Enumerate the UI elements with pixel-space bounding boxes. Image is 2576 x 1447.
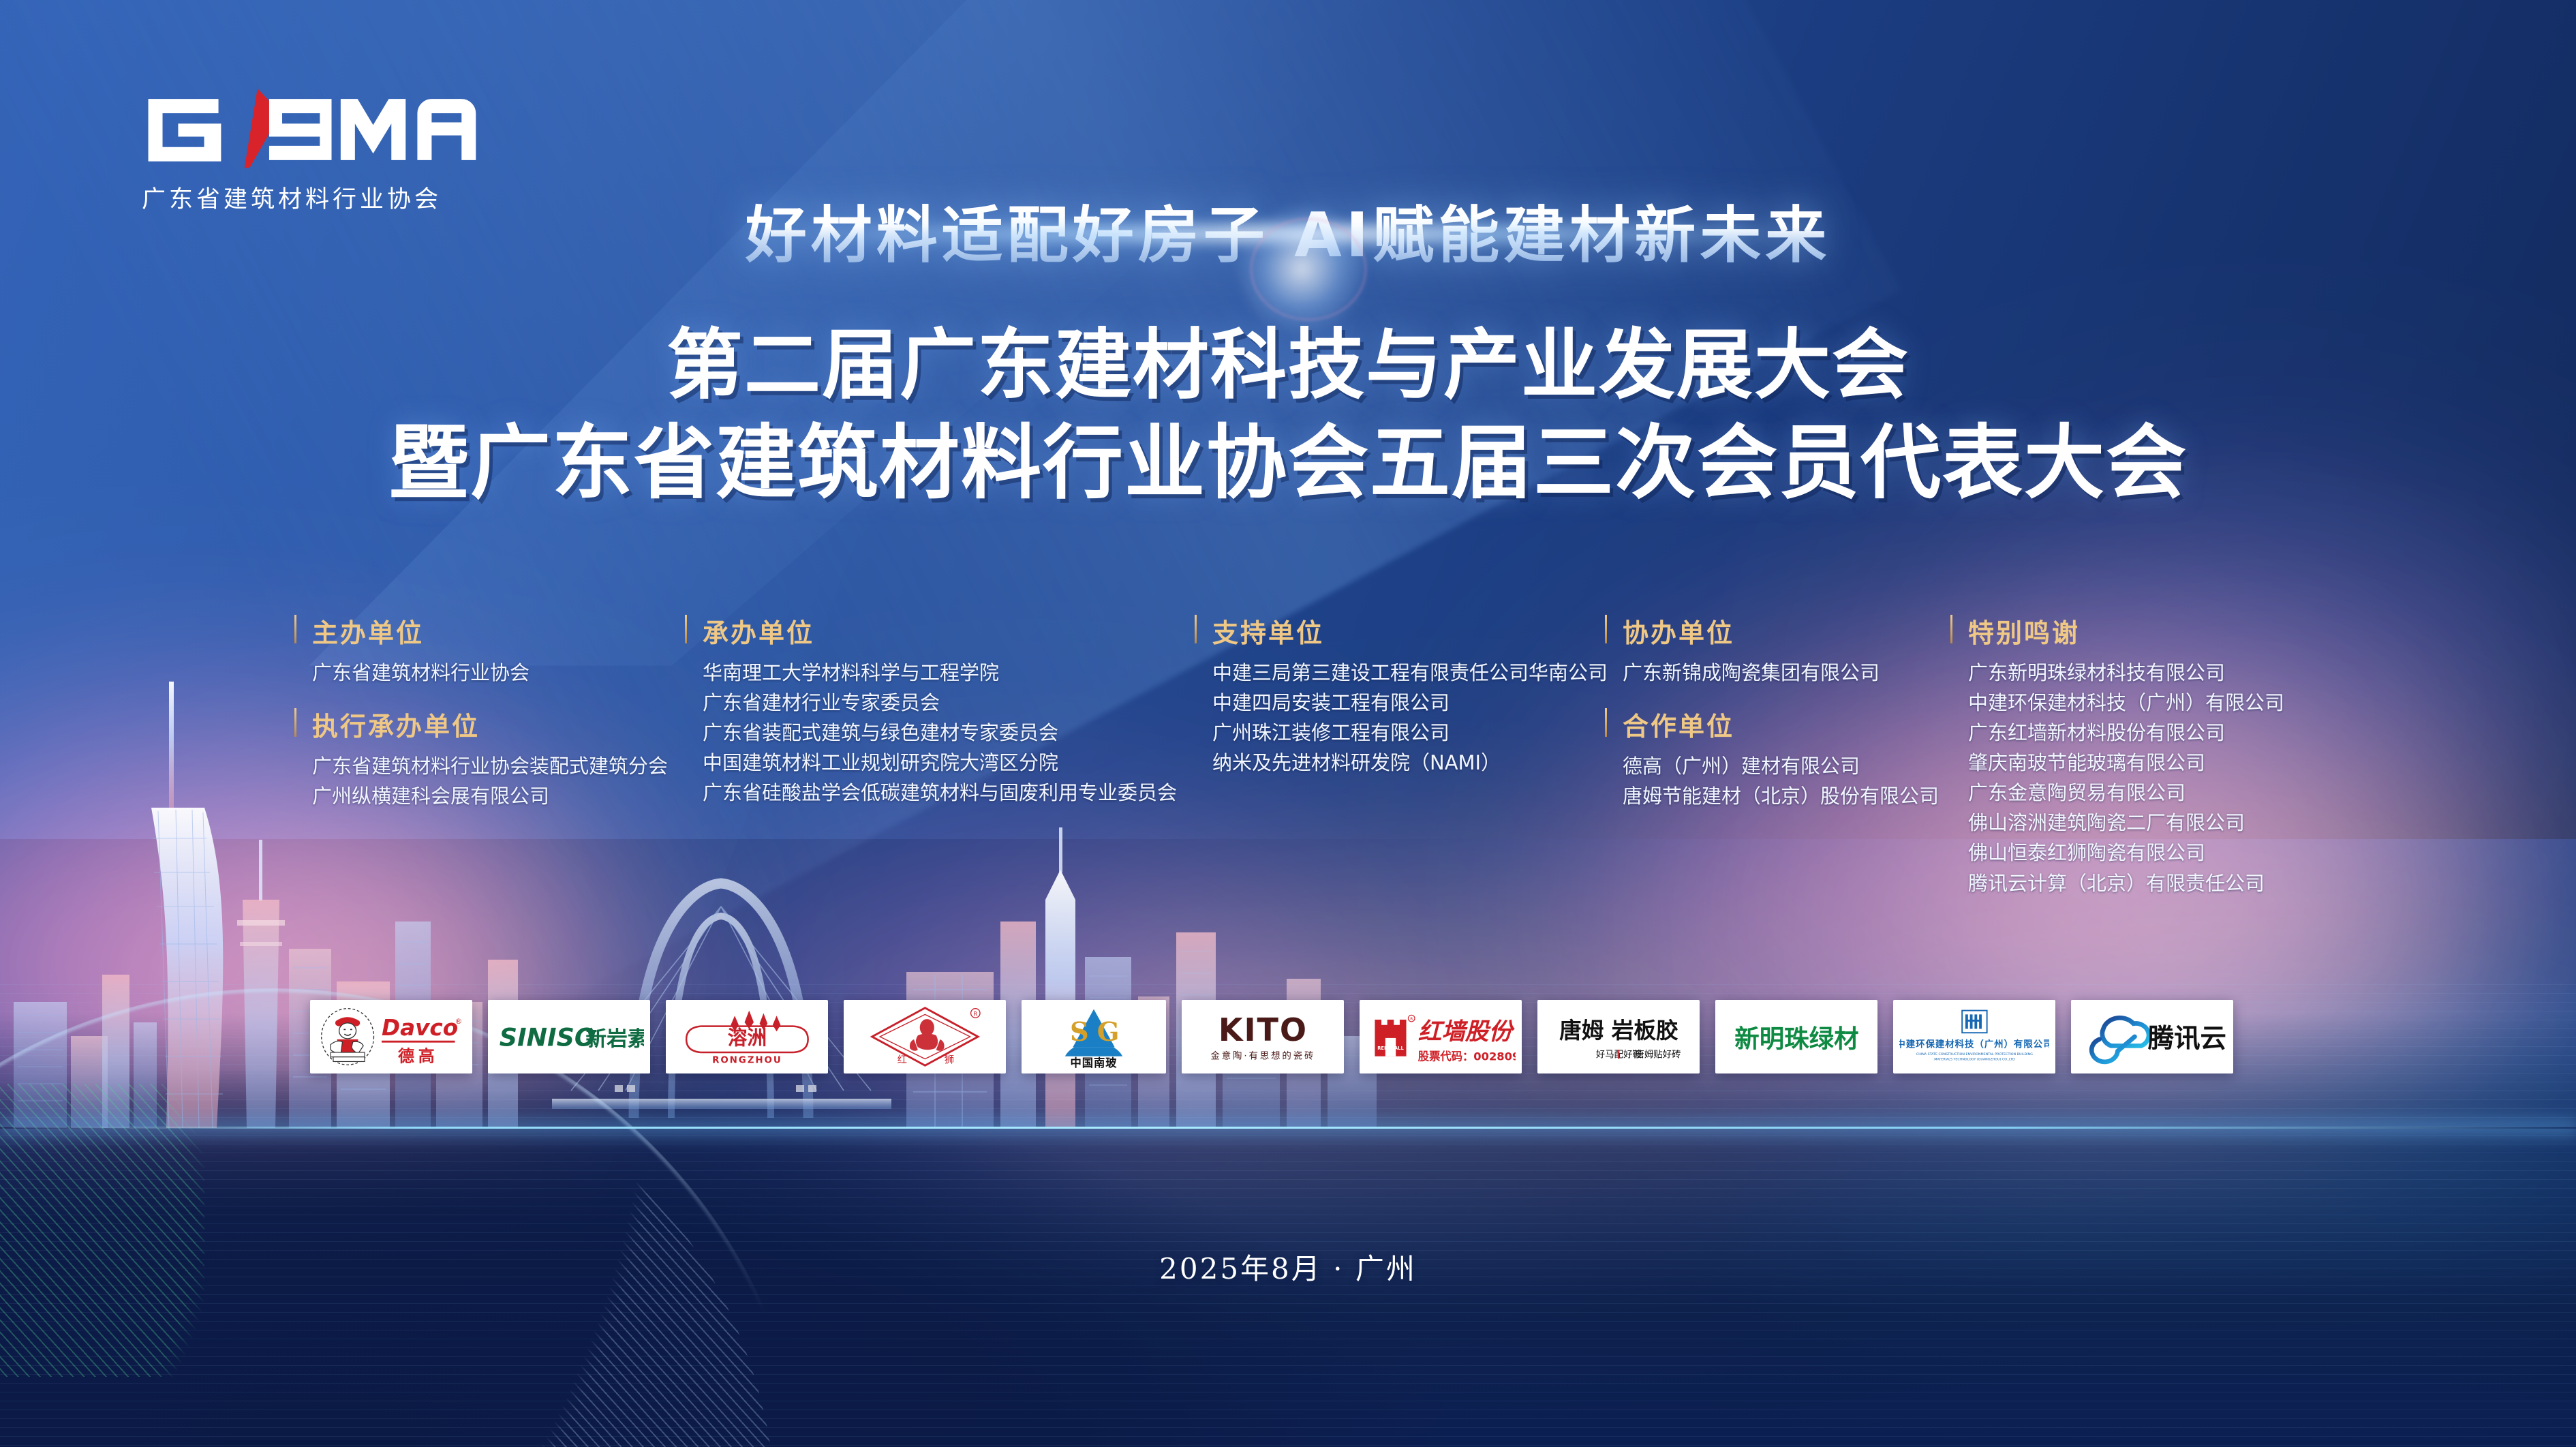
unit-item: 广东红墙新材料股份有限公司: [1968, 718, 2305, 748]
tencent-cloud-logo: 腾讯云: [2071, 1000, 2233, 1073]
rongzhou-logo: 溶洲 RONGZHOU: [666, 1000, 828, 1073]
unit-list: 广东省建筑材料行业协会装配式建筑分会 广州纵横建科会展有限公司: [294, 751, 662, 811]
unit-group-special-thanks: 特别鸣谢 广东新明珠绿材科技有限公司 中建环保建材科技（广州）有限公司 广东红墙…: [1950, 612, 2305, 898]
unit-item: 腾讯云计算（北京）有限责任公司: [1968, 868, 2305, 898]
units-column-5: 特别鸣谢 广东新明珠绿材科技有限公司 中建环保建材科技（广州）有限公司 广东红墙…: [1950, 612, 2305, 898]
unit-item: 中建环保建材科技（广州）有限公司: [1968, 688, 2305, 718]
siniso-logo: SINISO 新岩素: [488, 1000, 650, 1073]
svg-text:SINISO: SINISO: [499, 1022, 595, 1052]
davco-logo: Davco ® 德高: [310, 1000, 472, 1073]
units-column-1: 主办单位 广东省建筑材料行业协会 执行承办单位 广东省建筑材料行业协会装配式建筑…: [294, 612, 662, 811]
unit-item: 中建四局安装工程有限公司: [1212, 688, 1604, 718]
svg-text:新岩素: 新岩素: [585, 1026, 644, 1051]
unit-item: 广东新明珠绿材科技有限公司: [1968, 658, 2305, 688]
redwall-logo: RED WALL R 红墙股份 股票代码：002809: [1360, 1000, 1522, 1073]
honglion-logo: R 红 狮: [844, 1000, 1006, 1073]
units-column-3: 支持单位 中建三局第三建设工程有限责任公司华南公司 中建四局安装工程有限公司 广…: [1195, 612, 1604, 778]
unit-item: 佛山溶洲建筑陶瓷二厂有限公司: [1968, 808, 2305, 838]
unit-item: 纳米及先进材料研发院（NAMI）: [1212, 748, 1604, 778]
svg-text:股票代码：002809: 股票代码：002809: [1417, 1050, 1516, 1063]
units-column-4: 协办单位 广东新锦成陶瓷集团有限公司 合作单位 德高（广州）建材有限公司 唐姆节…: [1605, 612, 1946, 811]
unit-group-heading: 协办单位: [1605, 612, 1946, 650]
svg-text:金意陶·有思想的瓷砖: 金意陶·有思想的瓷砖: [1210, 1050, 1315, 1062]
svg-text:R: R: [973, 1011, 977, 1018]
unit-group-organizer: 承办单位 华南理工大学材料科学与工程学院 广东省建材行业专家委员会 广东省装配式…: [685, 612, 1176, 808]
svg-text:红: 红: [897, 1054, 906, 1065]
unit-item: 华南理工大学材料科学与工程学院: [703, 658, 1176, 688]
unit-item: 广州纵横建科会展有限公司: [312, 781, 662, 811]
unit-group-heading: 执行承办单位: [294, 705, 662, 743]
svg-text:红墙股份: 红墙股份: [1417, 1018, 1515, 1046]
unit-group-executive-organizer: 执行承办单位 广东省建筑材料行业协会装配式建筑分会 广州纵横建科会展有限公司: [294, 705, 662, 811]
unit-item: 唐姆节能建材（北京）股份有限公司: [1623, 781, 1946, 811]
unit-item: 广东省硅酸盐学会低碳建筑材料与固废利用专业委员会: [703, 778, 1176, 808]
svg-text:RONGZHOU: RONGZHOU: [712, 1055, 782, 1065]
unit-list: 广东新明珠绿材科技有限公司 中建环保建材科技（广州）有限公司 广东红墙新材料股份…: [1950, 658, 2305, 898]
unit-group-partner: 合作单位 德高（广州）建材有限公司 唐姆节能建材（北京）股份有限公司: [1605, 705, 1946, 811]
organizing-units-section: 主办单位 广东省建筑材料行业协会 执行承办单位 广东省建筑材料行业协会装配式建筑…: [0, 612, 2576, 905]
unit-item: 广东金意陶贸易有限公司: [1968, 778, 2305, 808]
gbma-logo-mark: [142, 87, 496, 172]
conference-backdrop: 广东省建筑材料行业协会 好材料适配好房子 AI赋能建材新未来 第二届广东建材科技…: [0, 0, 2576, 1447]
svg-text:新明珠绿材: 新明珠绿材: [1734, 1024, 1858, 1053]
svg-text:CHINA STATE CONSTRUCTION ENVIR: CHINA STATE CONSTRUCTION ENVIRONMENTAL P…: [1916, 1052, 2033, 1056]
unit-item: 德高（广州）建材有限公司: [1623, 751, 1946, 781]
unit-group-support: 支持单位 中建三局第三建设工程有限责任公司华南公司 中建四局安装工程有限公司 广…: [1195, 612, 1604, 778]
tangmu-logo: 唐姆 岩板胶 好马配好鞍 唐姆贴好砖: [1537, 1000, 1700, 1073]
svg-text:Davco: Davco: [382, 1015, 458, 1041]
units-column-2: 承办单位 华南理工大学材料科学与工程学院 广东省建材行业专家委员会 广东省装配式…: [685, 612, 1176, 808]
svg-text:MATERIALS TECHNOLOGY (GUANGZHO: MATERIALS TECHNOLOGY (GUANGZHOU) CO.,LTD: [1934, 1058, 2015, 1062]
svg-text:狮: 狮: [944, 1054, 953, 1065]
unit-list: 华南理工大学材料科学与工程学院 广东省建材行业专家委员会 广东省装配式建筑与绿色…: [685, 658, 1176, 808]
light-flare-ring: [1251, 218, 1366, 320]
main-title-line-2: 暨广东省建筑材料行业协会五届三次会员代表大会: [0, 416, 2576, 511]
unit-list: 广东新锦成陶瓷集团有限公司: [1605, 658, 1946, 688]
unit-item: 广州珠江装修工程有限公司: [1212, 718, 1604, 748]
unit-item: 广东省建材行业专家委员会: [703, 688, 1176, 718]
kito-logo: KITO 金意陶·有思想的瓷砖: [1182, 1000, 1344, 1073]
unit-item: 广东省装配式建筑与绿色建材专家委员会: [703, 718, 1176, 748]
unit-group-heading: 承办单位: [685, 612, 1176, 650]
unit-group-heading: 合作单位: [1605, 705, 1946, 743]
svg-text:®: ®: [455, 1018, 462, 1026]
svg-text:R: R: [1410, 1018, 1413, 1022]
svg-text:腾讯云: 腾讯云: [2147, 1023, 2226, 1054]
unit-list: 中建三局第三建设工程有限责任公司华南公司 中建四局安装工程有限公司 广州珠江装修…: [1195, 658, 1604, 778]
svg-text:唐姆贴好砖: 唐姆贴好砖: [1635, 1049, 1681, 1061]
svg-text:中国南玻: 中国南玻: [1070, 1056, 1117, 1069]
unit-item: 中建三局第三建设工程有限责任公司华南公司: [1212, 658, 1604, 688]
unit-group-co-organizer: 协办单位 广东新锦成陶瓷集团有限公司: [1605, 612, 1946, 688]
unit-list: 广东省建筑材料行业协会: [294, 658, 662, 688]
svg-text:中建环保建材科技（广州）有限公司: 中建环保建材科技（广州）有限公司: [1899, 1038, 2050, 1050]
unit-item: 中国建筑材料工业规划研究院大湾区分院: [703, 748, 1176, 778]
sponsor-logo-strip: Davco ® 德高 SINISO 新岩素: [310, 1000, 2233, 1073]
svg-text:G: G: [1097, 1017, 1120, 1048]
svg-text:德高: 德高: [398, 1046, 439, 1065]
cscec-logo: 中建环保建材科技（广州）有限公司 CHINA STATE CONSTRUCTIO…: [1893, 1000, 2055, 1073]
unit-item: 佛山恒泰红狮陶瓷有限公司: [1968, 838, 2305, 868]
unit-list: 德高（广州）建材有限公司 唐姆节能建材（北京）股份有限公司: [1605, 751, 1946, 811]
unit-item: 广东省建筑材料行业协会: [312, 658, 662, 688]
unit-item: 广东新锦成陶瓷集团有限公司: [1623, 658, 1946, 688]
event-date-location: 2025年8月 · 广州: [0, 1246, 2576, 1288]
unit-group-host: 主办单位 广东省建筑材料行业协会: [294, 612, 662, 688]
svg-text:溶洲: 溶洲: [727, 1026, 767, 1050]
csg-nanbo-logo: S G 中国南玻: [1022, 1000, 1166, 1073]
horizon-light-line: [0, 1127, 2576, 1129]
unit-group-heading: 主办单位: [294, 612, 662, 650]
unit-item: 广东省建筑材料行业协会装配式建筑分会: [312, 751, 662, 781]
svg-text:KITO: KITO: [1218, 1011, 1307, 1048]
main-title-line-1: 第二届广东建材科技与产业发展大会: [0, 320, 2576, 410]
main-title-block: 第二届广东建材科技与产业发展大会 暨广东省建筑材料行业协会五届三次会员代表大会: [0, 320, 2576, 511]
svg-text:唐姆 岩板胶: 唐姆 岩板胶: [1559, 1018, 1678, 1044]
unit-group-heading: 特别鸣谢: [1950, 612, 2305, 650]
svg-text:S: S: [1070, 1017, 1089, 1048]
xinmingzhu-logo: 新明珠绿材: [1715, 1000, 1877, 1073]
unit-item: 肇庆南玻节能玻璃有限公司: [1968, 748, 2305, 778]
unit-group-heading: 支持单位: [1195, 612, 1604, 650]
svg-text:RED WALL: RED WALL: [1377, 1046, 1404, 1051]
